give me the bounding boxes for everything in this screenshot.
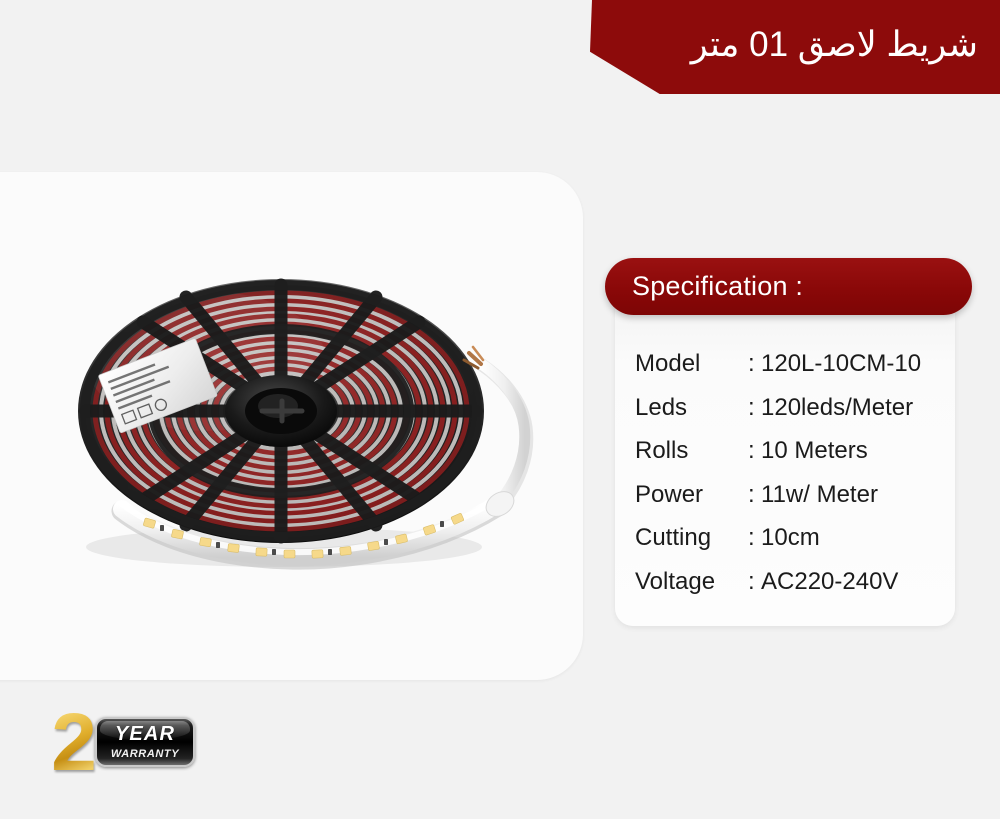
warranty-plaque: YEAR WARRANTY [95, 717, 195, 767]
warranty-year-label: YEAR [97, 724, 193, 744]
specification-header: Specification : [605, 258, 972, 315]
spec-row-rolls: Rolls : 10 Meters [635, 437, 941, 481]
warranty-word-label: WARRANTY [97, 749, 193, 760]
warranty-number: 2 [38, 706, 110, 780]
spec-colon: : [748, 568, 761, 596]
spec-row-leds: Leds : 120leds/Meter [635, 394, 941, 438]
spec-label-power: Power [635, 481, 748, 509]
spec-value-power: 11w/ Meter [761, 481, 941, 509]
spec-row-cutting: Cutting : 10cm [635, 524, 941, 568]
specification-heading: Specification : [605, 271, 803, 302]
spec-value-voltage: AC220-240V [761, 568, 941, 596]
product-spec-page: شريط لاصق 10 متر [0, 0, 1000, 819]
page-title: شريط لاصق 10 متر [691, 27, 1000, 68]
spec-colon: : [748, 437, 761, 465]
spec-row-voltage: Voltage : AC220-240V [635, 568, 941, 612]
spec-label-voltage: Voltage [635, 568, 748, 596]
spec-colon: : [748, 481, 761, 509]
spec-row-power: Power : 11w/ Meter [635, 481, 941, 525]
specification-panel: Model : 120L-10CM-10 Leds : 120leds/Mete… [615, 288, 955, 626]
spec-label-leds: Leds [635, 394, 748, 422]
spec-value-cutting: 10cm [761, 524, 941, 552]
spec-label-rolls: Rolls [635, 437, 748, 465]
product-image-card [0, 172, 583, 680]
spec-colon: : [748, 350, 761, 378]
header-banner: شريط لاصق 10 متر [590, 0, 1000, 94]
spec-row-model: Model : 120L-10CM-10 [635, 350, 941, 394]
spec-value-leds: 120leds/Meter [761, 394, 941, 422]
spec-label-model: Model [635, 350, 748, 378]
specification-rows: Model : 120L-10CM-10 Leds : 120leds/Mete… [635, 350, 941, 611]
spec-colon: : [748, 524, 761, 552]
product-image-stage [0, 172, 583, 680]
led-strip-reel-image [26, 261, 546, 591]
spec-value-model: 120L-10CM-10 [761, 350, 941, 378]
led-reel-illustration [26, 261, 546, 591]
warranty-badge: YEAR WARRANTY 2 [38, 706, 196, 780]
spec-label-cutting: Cutting [635, 524, 748, 552]
spec-colon: : [748, 394, 761, 422]
spec-value-rolls: 10 Meters [761, 437, 941, 465]
